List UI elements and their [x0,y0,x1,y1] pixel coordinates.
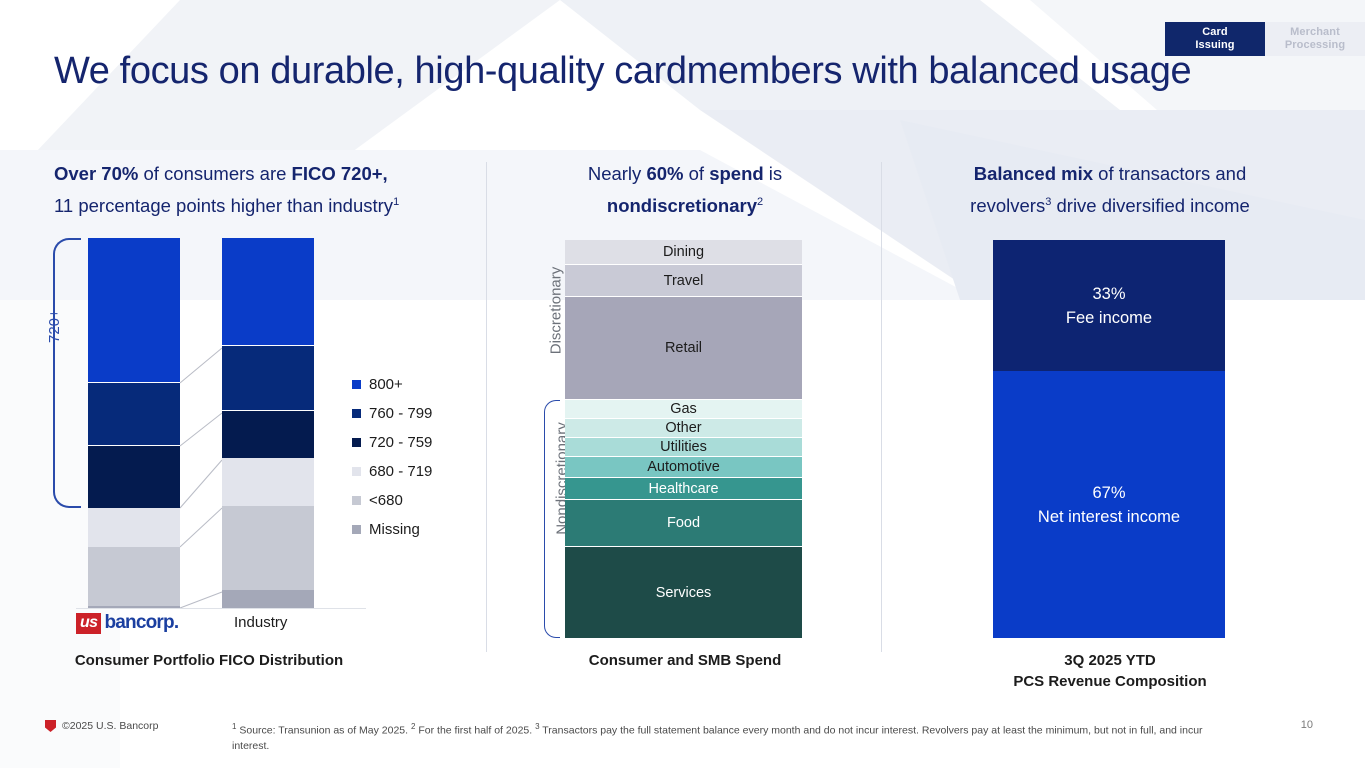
pcs-revenue-chart: 33% Fee income 67% Net interest income [993,240,1225,638]
revenue-seg-fee-income-label: Fee income [1066,306,1152,330]
spend-headline-text-1: Nearly [588,163,647,184]
copyright-text: ©2025 U.S. Bancorp [62,720,158,732]
spend-headline-bold-3: nondiscretionary [607,195,757,216]
fico-seg-ind-720-759 [222,411,314,458]
revenue-seg-fee-income-percent: 33% [1092,282,1125,306]
fico-legend: 800+ 760 - 799 720 - 759 680 - 719 <680 … [352,370,432,544]
spend-headline-text-2: of [683,163,709,184]
spend-seg-healthcare: Healthcare [565,478,802,500]
spend-headline-text-3: is [764,163,783,184]
spend-seg-dining: Dining [565,240,802,265]
usbancorp-logo: us bancorp . [76,612,179,634]
fico-axis-labels: us bancorp . Industry [54,612,384,642]
usbancorp-logo-mark: us [76,613,101,634]
fico-headline-bold-1: Over 70% [54,163,138,184]
shield-icon [45,720,56,732]
legend-item-760-799: 760 - 799 [352,399,432,428]
legend-swatch-680-719 [352,467,361,476]
caption-revenue-line1: 3Q 2025 YTD [900,650,1320,671]
caption-spend: Consumer and SMB Spend [520,650,850,671]
copyright-block: ©2025 U.S. Bancorp [45,720,158,732]
legend-item-680-719: 680 - 719 [352,457,432,486]
legend-label-760-799: 760 - 799 [369,405,432,422]
footnote-text-2: For the first half of 2025. [415,725,535,737]
spend-bar: Dining Travel Retail Gas Other Utilities… [565,240,802,638]
fico-headline-bold-2: FICO 720+, [292,163,388,184]
column-spend-headline: Nearly 60% of spend is nondiscretionary2 [520,160,850,220]
legend-swatch-760-799 [352,409,361,418]
fico-seg-usb-760-799 [88,383,180,446]
fico-seg-usb-680-719 [88,508,180,547]
usbancorp-logo-dot: . [174,612,179,634]
legend-label-720-759: 720 - 759 [369,434,432,451]
spend-seg-services: Services [565,547,802,638]
spend-seg-food: Food [565,500,802,547]
fico-headline-text-1: of consumers are [138,163,291,184]
legend-swatch-720-759 [352,438,361,447]
revenue-seg-net-interest-income: 67% Net interest income [993,371,1225,638]
revenue-headline-text-1: of transactors and [1093,163,1246,184]
spend-headline-bold-2: spend [709,163,763,184]
tab-card-issuing[interactable]: Card Issuing [1165,22,1265,56]
spend-seg-gas: Gas [565,400,802,419]
tab-card-issuing-line2: Issuing [1195,39,1234,52]
fico-headline-text-2: 11 percentage points higher than industr… [54,195,393,216]
column-fico: Over 70% of consumers are FICO 720+, 11 … [54,160,494,220]
fico-seg-usb-under680 [88,547,180,606]
column-divider-2 [881,162,882,652]
footnote-text-1: Source: Transunion as of May 2025. [236,725,411,737]
legend-swatch-under680 [352,496,361,505]
revenue-headline-text-2: revolvers [970,195,1045,216]
caption-revenue: 3Q 2025 YTD PCS Revenue Composition [900,650,1320,692]
spend-composition-chart: Discretionary Nondiscretionary Dining Tr… [520,240,850,640]
tab-merchant-processing-line1: Merchant [1290,26,1340,39]
legend-label-under680: <680 [369,492,403,509]
caption-fico: Consumer Portfolio FICO Distribution [54,650,364,671]
tab-card-issuing-line1: Card [1202,26,1227,39]
legend-label-missing: Missing [369,521,420,538]
fico-seg-ind-680-719 [222,458,314,506]
revenue-headline-text-3: drive diversified income [1051,195,1249,216]
fico-seg-ind-800plus [222,238,314,346]
fico-seg-ind-760-799 [222,346,314,411]
fico-headline-footnote-ref: 1 [393,196,399,208]
column-revenue-headline: Balanced mix of transactors and revolver… [900,160,1320,220]
fico-seg-ind-missing [222,590,314,608]
segment-tabs[interactable]: Card Issuing Merchant Processing [1165,22,1365,56]
spend-seg-travel: Travel [565,265,802,297]
revenue-seg-net-interest-income-percent: 67% [1092,481,1125,505]
spend-seg-other: Other [565,419,802,438]
fico-seg-usb-800plus [88,238,180,383]
fico-seg-ind-under680 [222,506,314,590]
legend-item-under680: <680 [352,486,432,515]
slide-footer: ©2025 U.S. Bancorp 1 Source: Transunion … [0,708,1365,768]
tab-merchant-processing-line2: Processing [1285,39,1345,52]
page-number: 10 [1301,719,1313,731]
revenue-seg-fee-income: 33% Fee income [993,240,1225,371]
fico-axis-label-industry: Industry [234,614,287,631]
fico-bar-usbancorp [88,238,180,608]
column-fico-headline: Over 70% of consumers are FICO 720+, 11 … [54,160,494,220]
footnotes: 1 Source: Transunion as of May 2025. 2 F… [232,719,1232,754]
legend-label-680-719: 680 - 719 [369,463,432,480]
spend-headline-bold-1: 60% [646,163,683,184]
caption-revenue-line2: PCS Revenue Composition [900,671,1320,692]
tab-merchant-processing[interactable]: Merchant Processing [1265,22,1365,56]
fico-baseline [76,608,366,609]
legend-item-720-759: 720 - 759 [352,428,432,457]
spend-headline-footnote-ref: 2 [757,196,763,208]
spend-group-label-discretionary: Discretionary [548,251,565,371]
column-revenue: Balanced mix of transactors and revolver… [900,160,1320,220]
revenue-seg-net-interest-income-label: Net interest income [1038,505,1180,529]
legend-swatch-800plus [352,380,361,389]
slide-title: We focus on durable, high-quality cardme… [54,50,1191,93]
legend-item-missing: Missing [352,515,432,544]
legend-swatch-missing [352,525,361,534]
column-spend: Nearly 60% of spend is nondiscretionary2 [520,160,850,220]
spend-seg-retail: Retail [565,297,802,400]
legend-label-800plus: 800+ [369,376,403,393]
revenue-headline-bold: Balanced mix [974,163,1093,184]
spend-bracket-nondiscretionary [544,400,560,638]
legend-item-800plus: 800+ [352,370,432,399]
usbancorp-logo-word: bancorp [104,612,173,634]
fico-seg-usb-720-759 [88,446,180,508]
fico-bar-industry [222,238,314,608]
column-divider-1 [486,162,487,652]
spend-seg-automotive: Automotive [565,457,802,478]
spend-seg-utilities: Utilities [565,438,802,457]
